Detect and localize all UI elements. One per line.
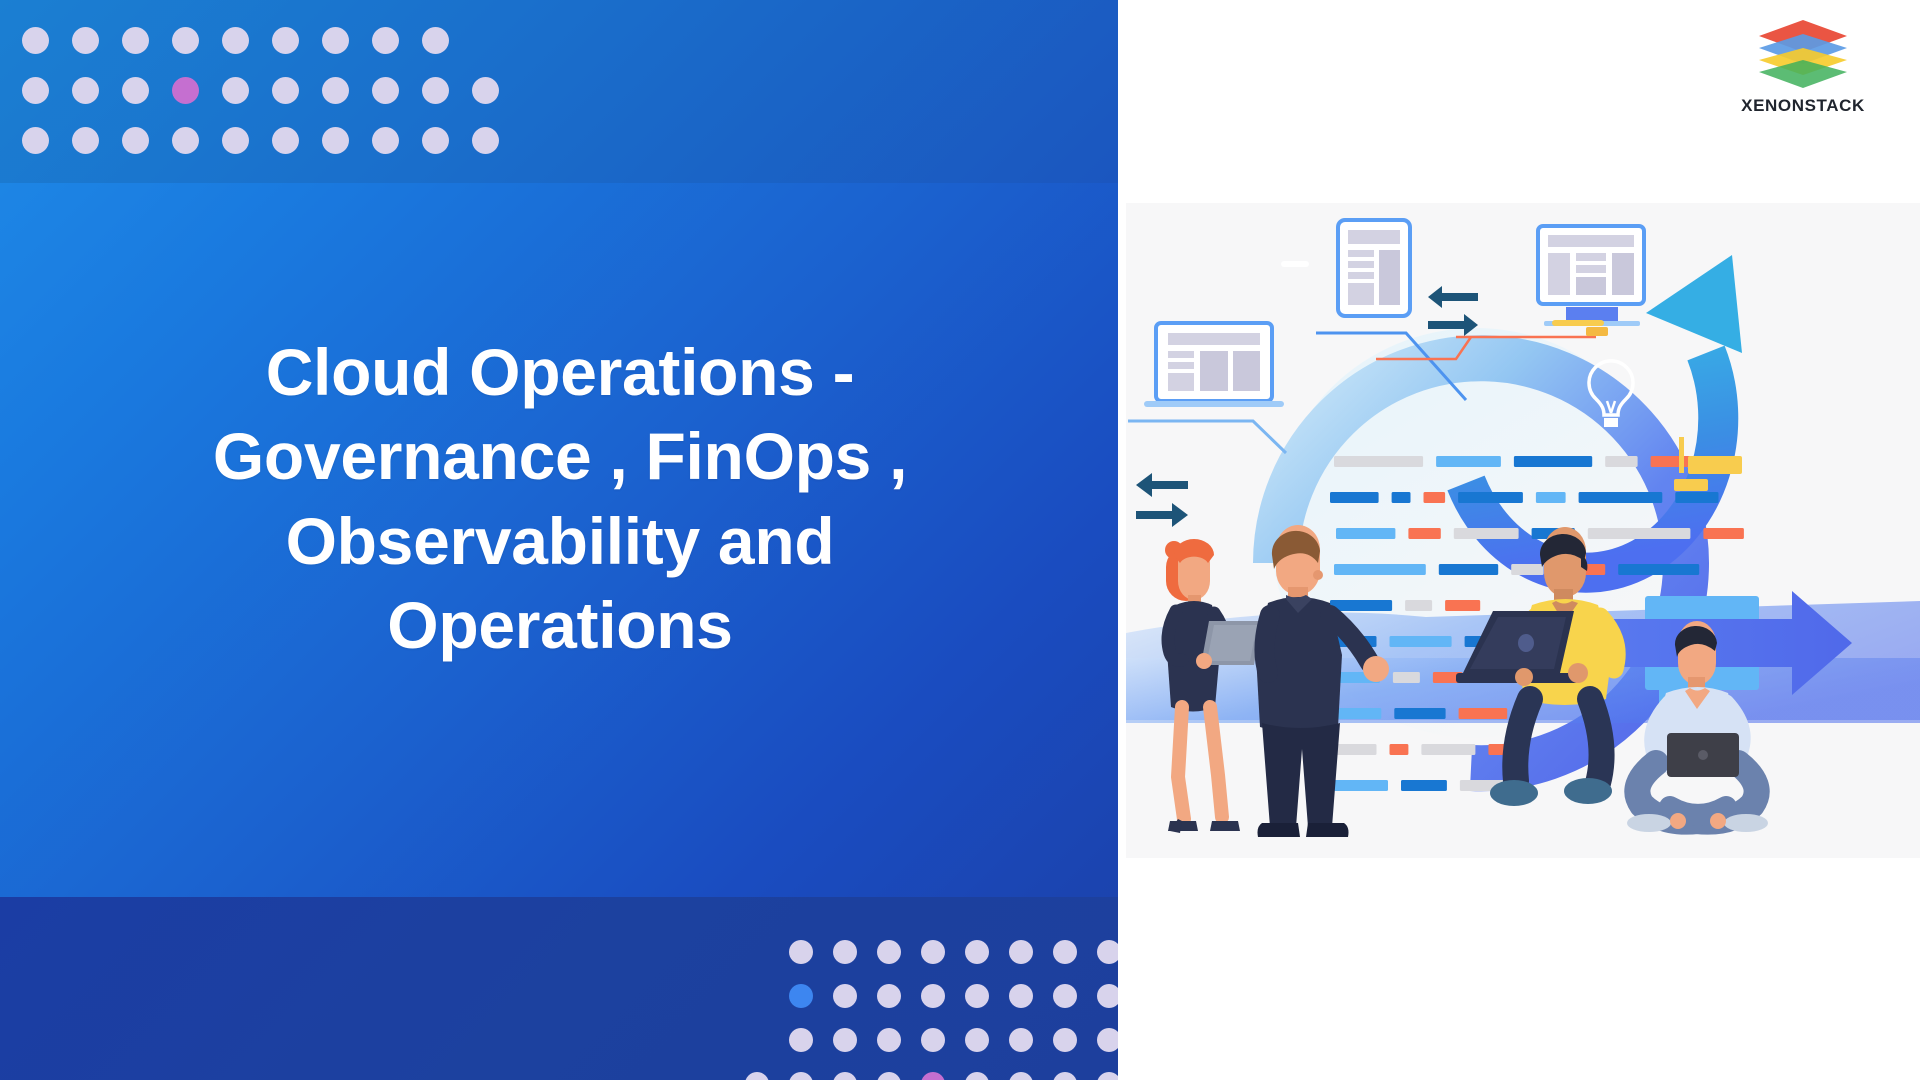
data-bar bbox=[1334, 456, 1423, 467]
data-bar bbox=[1439, 564, 1498, 575]
data-bar bbox=[1536, 492, 1566, 503]
brand-wordmark: XENONSTACK bbox=[1728, 96, 1878, 116]
dot bbox=[172, 127, 199, 154]
dot bbox=[222, 27, 249, 54]
page-title: Cloud Operations - Governance , FinOps ,… bbox=[110, 330, 1010, 668]
data-bar bbox=[1703, 528, 1744, 539]
data-bar bbox=[1588, 528, 1691, 539]
dot bbox=[1009, 940, 1033, 964]
hero-panel: Cloud Operations - Governance , FinOps ,… bbox=[0, 0, 1118, 1080]
exchange-arrows-icon-left bbox=[1136, 473, 1188, 527]
data-bar bbox=[1330, 600, 1392, 611]
dot bbox=[272, 77, 299, 104]
dot bbox=[965, 984, 989, 1008]
brand-logo: XENONSTACK bbox=[1728, 18, 1878, 116]
data-bar bbox=[1334, 564, 1426, 575]
dot bbox=[372, 127, 399, 154]
data-bar bbox=[1436, 456, 1501, 467]
dot bbox=[1097, 1072, 1118, 1080]
dot bbox=[877, 1072, 901, 1080]
dot bbox=[745, 940, 769, 964]
dot bbox=[965, 1072, 989, 1080]
dot bbox=[833, 1072, 857, 1080]
dot bbox=[222, 127, 249, 154]
dot bbox=[833, 1028, 857, 1052]
dot bbox=[22, 127, 49, 154]
dot bbox=[877, 1028, 901, 1052]
dot bbox=[745, 1028, 769, 1052]
dot bbox=[322, 127, 349, 154]
data-bar bbox=[1445, 600, 1480, 611]
data-bar bbox=[1390, 744, 1409, 755]
dot bbox=[72, 27, 99, 54]
dot-accent bbox=[789, 984, 813, 1008]
data-bar bbox=[1618, 564, 1699, 575]
data-bar bbox=[1675, 492, 1718, 503]
dot bbox=[272, 27, 299, 54]
data-bar bbox=[1514, 456, 1592, 467]
data-bar bbox=[1458, 492, 1523, 503]
dot bbox=[921, 1028, 945, 1052]
dot bbox=[921, 940, 945, 964]
dot bbox=[1053, 1028, 1077, 1052]
dot bbox=[422, 77, 449, 104]
presentation-slide: Cloud Operations - Governance , FinOps ,… bbox=[0, 0, 1920, 1080]
data-bar bbox=[1421, 744, 1475, 755]
dot bbox=[877, 984, 901, 1008]
hero-illustration bbox=[1126, 203, 1920, 858]
dot bbox=[22, 77, 49, 104]
dot bbox=[833, 984, 857, 1008]
dot bbox=[122, 77, 149, 104]
laptop-device-icon bbox=[1128, 323, 1286, 453]
data-bar bbox=[1336, 744, 1377, 755]
dot bbox=[122, 127, 149, 154]
dot-accent bbox=[921, 1072, 945, 1080]
dot bbox=[472, 127, 499, 154]
dot-accent bbox=[172, 77, 199, 104]
dot bbox=[745, 984, 769, 1008]
cloud-operations-team-illustration bbox=[1126, 203, 1920, 858]
data-bar bbox=[1605, 456, 1637, 467]
dot bbox=[422, 27, 449, 54]
dot-grid-bottom-right bbox=[745, 940, 1118, 1080]
data-bar bbox=[1424, 492, 1446, 503]
dot bbox=[172, 27, 199, 54]
dot-grid-top-left bbox=[22, 27, 502, 157]
dot bbox=[789, 940, 813, 964]
dot bbox=[372, 77, 399, 104]
data-bar bbox=[1401, 780, 1447, 791]
data-bar bbox=[1394, 708, 1445, 719]
dot bbox=[1053, 940, 1077, 964]
dot bbox=[322, 27, 349, 54]
dot bbox=[422, 127, 449, 154]
dot bbox=[322, 77, 349, 104]
dot bbox=[222, 77, 249, 104]
dot bbox=[1097, 1028, 1118, 1052]
data-bar bbox=[1579, 492, 1663, 503]
exchange-arrows-icon-top bbox=[1428, 286, 1478, 336]
dot bbox=[1053, 1072, 1077, 1080]
data-bar bbox=[1511, 564, 1543, 575]
dot bbox=[22, 27, 49, 54]
data-bar bbox=[1405, 600, 1432, 611]
data-bar bbox=[1336, 528, 1395, 539]
dot bbox=[1097, 984, 1118, 1008]
dot bbox=[1009, 1028, 1033, 1052]
dot bbox=[72, 77, 99, 104]
data-bar bbox=[1330, 492, 1379, 503]
dot bbox=[1009, 1072, 1033, 1080]
dot bbox=[372, 27, 399, 54]
data-bar bbox=[1459, 708, 1508, 719]
data-bar bbox=[1393, 672, 1420, 683]
dot bbox=[921, 984, 945, 1008]
dot bbox=[789, 1072, 813, 1080]
dot bbox=[1053, 984, 1077, 1008]
dot bbox=[1009, 984, 1033, 1008]
dot bbox=[272, 127, 299, 154]
stack-layers-icon bbox=[1755, 18, 1851, 92]
dot bbox=[965, 940, 989, 964]
data-bar bbox=[1408, 528, 1440, 539]
dot bbox=[833, 940, 857, 964]
data-bar bbox=[1454, 528, 1519, 539]
dot bbox=[965, 1028, 989, 1052]
data-bar bbox=[1392, 492, 1411, 503]
data-bar bbox=[1390, 636, 1452, 647]
dot bbox=[72, 127, 99, 154]
dot bbox=[745, 1072, 769, 1080]
dot bbox=[789, 1028, 813, 1052]
dot bbox=[122, 27, 149, 54]
data-bar bbox=[1334, 780, 1388, 791]
dot bbox=[472, 77, 499, 104]
dot bbox=[472, 27, 499, 54]
dot bbox=[877, 940, 901, 964]
dot bbox=[1097, 940, 1118, 964]
